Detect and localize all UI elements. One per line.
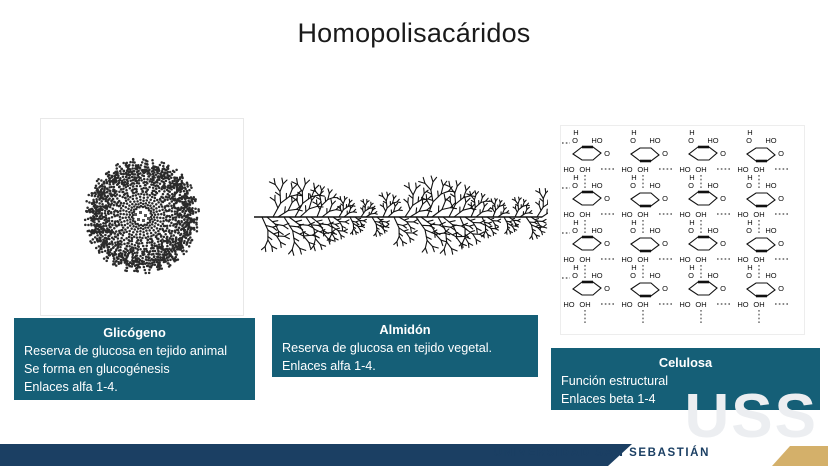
svg-text:O: O [604, 284, 610, 293]
svg-text:O: O [572, 271, 578, 280]
svg-text:O: O [688, 136, 694, 145]
caption-title-cellulose: Celulosa [561, 354, 810, 372]
svg-text:O: O [662, 149, 668, 158]
svg-text:O: O [746, 136, 752, 145]
svg-text:O: O [572, 136, 578, 145]
svg-text:OH: OH [579, 165, 590, 174]
svg-text:O: O [688, 181, 694, 190]
svg-text:HO: HO [765, 181, 776, 190]
svg-text:HO: HO [649, 136, 660, 145]
slide-canvas: Homopolisacáridos OOHHOOHHOOOHHOOHHOOOHH… [0, 0, 828, 466]
svg-text:H: H [631, 173, 636, 182]
svg-text:O: O [778, 284, 784, 293]
svg-text:O: O [720, 239, 726, 248]
svg-text:HO: HO [679, 300, 690, 309]
svg-text:H: H [689, 263, 694, 272]
caption-title-glycogen: Glicógeno [24, 324, 245, 342]
caption-line: Reserva de glucosa en tejido animal [24, 343, 245, 361]
caption-line: Enlaces alfa 1-4. [24, 379, 245, 397]
svg-text:H: H [689, 128, 694, 137]
caption-line: Enlaces alfa 1-4. [282, 358, 528, 376]
svg-text:OH: OH [579, 255, 590, 264]
svg-text:OH: OH [579, 300, 590, 309]
page-title: Homopolisacáridos [0, 18, 828, 49]
svg-text:HO: HO [649, 271, 660, 280]
svg-text:O: O [720, 149, 726, 158]
svg-text:O: O [572, 226, 578, 235]
svg-text:H: H [631, 128, 636, 137]
svg-text:O: O [630, 181, 636, 190]
svg-text:O: O [778, 239, 784, 248]
svg-text:O: O [746, 271, 752, 280]
svg-text:H: H [573, 128, 578, 137]
svg-text:H: H [747, 218, 752, 227]
svg-text:OH: OH [637, 300, 648, 309]
svg-text:OH: OH [637, 210, 648, 219]
svg-text:H: H [747, 173, 752, 182]
svg-text:OH: OH [637, 165, 648, 174]
svg-text:H: H [631, 218, 636, 227]
svg-text:HO: HO [707, 181, 718, 190]
svg-text:OH: OH [695, 300, 706, 309]
svg-text:OH: OH [753, 255, 764, 264]
caption-line: Se forma en glucogénesis [24, 361, 245, 379]
svg-text:HO: HO [765, 136, 776, 145]
footer-institution-label: UNIVERSIDAD SAN SEBASTIÁN [494, 447, 710, 459]
svg-text:HO: HO [591, 226, 602, 235]
svg-text:O: O [662, 194, 668, 203]
svg-text:O: O [720, 194, 726, 203]
glycogen-structure-image [40, 118, 244, 316]
svg-text:O: O [630, 136, 636, 145]
caption-title-starch: Almidón [282, 321, 528, 339]
svg-text:H: H [689, 218, 694, 227]
svg-text:O: O [688, 271, 694, 280]
cellulose-structure-image: OOHHOOHHOOOHHOOHHOOOHHOOHHOOOHHOOHHOOOHH… [560, 125, 805, 335]
svg-text:H: H [631, 263, 636, 272]
svg-text:OH: OH [695, 255, 706, 264]
starch-amylopectin-image [248, 158, 548, 276]
svg-text:O: O [746, 226, 752, 235]
svg-text:O: O [746, 181, 752, 190]
svg-text:H: H [573, 173, 578, 182]
svg-text:H: H [689, 173, 694, 182]
svg-text:O: O [688, 226, 694, 235]
svg-text:HO: HO [707, 226, 718, 235]
svg-text:OH: OH [753, 300, 764, 309]
svg-text:OH: OH [753, 210, 764, 219]
caption-box-glycogen: Glicógeno Reserva de glucosa en tejido a… [14, 318, 255, 400]
svg-text:OH: OH [579, 210, 590, 219]
svg-text:HO: HO [765, 271, 776, 280]
svg-text:HO: HO [649, 226, 660, 235]
svg-text:O: O [778, 149, 784, 158]
svg-text:HO: HO [707, 136, 718, 145]
svg-text:O: O [604, 239, 610, 248]
svg-text:O: O [572, 181, 578, 190]
svg-text:HO: HO [707, 271, 718, 280]
svg-text:OH: OH [637, 255, 648, 264]
svg-text:O: O [630, 226, 636, 235]
svg-text:O: O [604, 194, 610, 203]
svg-text:OH: OH [695, 165, 706, 174]
svg-text:O: O [662, 239, 668, 248]
svg-text:HO: HO [591, 271, 602, 280]
svg-text:OH: OH [695, 210, 706, 219]
svg-text:OH: OH [753, 165, 764, 174]
svg-text:O: O [604, 149, 610, 158]
svg-text:H: H [573, 218, 578, 227]
slide-footer: UNIVERSIDAD SAN SEBASTIÁN [0, 438, 828, 466]
svg-text:H: H [747, 128, 752, 137]
caption-line: Reserva de glucosa en tejido vegetal. [282, 340, 528, 358]
svg-text:HO: HO [737, 300, 748, 309]
svg-text:HO: HO [563, 300, 574, 309]
svg-text:O: O [630, 271, 636, 280]
svg-text:HO: HO [621, 300, 632, 309]
caption-box-starch: Almidón Reserva de glucosa en tejido veg… [272, 315, 538, 377]
svg-text:HO: HO [591, 181, 602, 190]
svg-text:O: O [720, 284, 726, 293]
svg-text:H: H [573, 263, 578, 272]
svg-text:HO: HO [649, 181, 660, 190]
svg-text:HO: HO [765, 226, 776, 235]
svg-text:H: H [747, 263, 752, 272]
svg-text:HO: HO [591, 136, 602, 145]
svg-text:O: O [662, 284, 668, 293]
svg-text:O: O [778, 194, 784, 203]
